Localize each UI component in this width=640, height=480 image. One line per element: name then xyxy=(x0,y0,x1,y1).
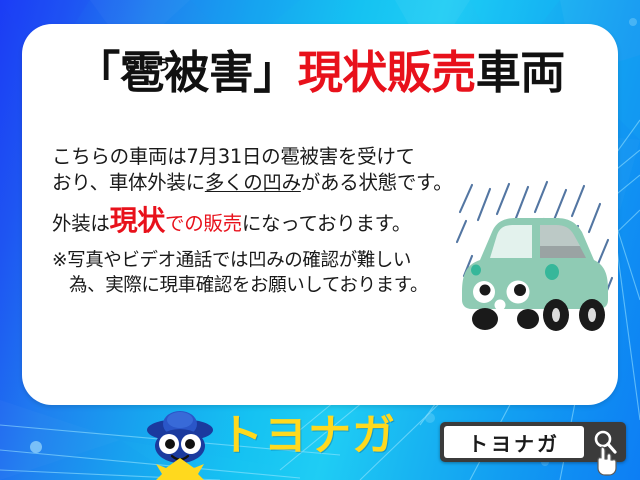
search-bar[interactable]: トヨナガ xyxy=(440,422,626,462)
paragraph-1-line-1: こちらの車両は7月31日の雹被害を受けて xyxy=(52,145,415,168)
paragraph-2-emphasis: 現状 xyxy=(110,204,165,237)
title-block: ひょう 「雹被害」現状販売車両 xyxy=(22,50,618,95)
body-copy: こちらの車両は7月31日の雹被害を受けて おり、車体外装に多くの凹みがある状態で… xyxy=(52,144,462,299)
title-segment-tail: 車両 xyxy=(476,46,565,99)
search-input[interactable]: トヨナガ xyxy=(444,426,584,458)
brand-logo: トヨナガ xyxy=(140,406,418,480)
paragraph-3: ※写真やビデオ通話では凹みの確認が難しい 為、実際に現車確認をお願いしております… xyxy=(52,249,462,299)
search-input-value: トヨナガ xyxy=(468,428,560,457)
paragraph-2-post: になっております。 xyxy=(242,212,411,235)
paragraph-1-line-2-pre: おり、車体外装に xyxy=(52,171,205,194)
paragraph-3-line-2: 為、実際に現車確認をお願いしております。 xyxy=(52,274,462,299)
paragraph-2-red: での販売 xyxy=(165,212,242,235)
hail-damaged-car-illustration xyxy=(452,172,618,340)
paragraph-2-pre: 外装は xyxy=(52,212,110,235)
paragraph-2: 外装は現状での販売になっております。 xyxy=(52,208,462,235)
title-furigana: ひょう xyxy=(124,54,172,75)
paragraph-1-underlined-phrase: 多くの凹み xyxy=(205,171,301,194)
toyonaga-mascot-icon xyxy=(140,406,220,480)
paragraph-3-line-1: ※写真やビデオ通話では凹みの確認が難しい xyxy=(52,250,411,271)
banner-image: ひょう 「雹被害」現状販売車両 こちらの車両は7月31日の雹被害を受けて おり、… xyxy=(0,0,640,480)
brand-name: トヨナガ xyxy=(220,415,396,458)
title-segment-highlight: 現状販売 xyxy=(298,46,476,99)
car-icon xyxy=(462,218,608,331)
paragraph-1: こちらの車両は7月31日の雹被害を受けて おり、車体外装に多くの凹みがある状態で… xyxy=(52,144,462,196)
content-card: ひょう 「雹被害」現状販売車両 こちらの車両は7月31日の雹被害を受けて おり、… xyxy=(22,24,618,405)
page-title: 「雹被害」現状販売車両 xyxy=(22,50,618,95)
paragraph-1-line-2-post: がある状態です。 xyxy=(301,171,453,194)
hand-cursor-icon xyxy=(592,444,622,476)
title-segment-quoted: 「雹被害」 xyxy=(75,46,298,99)
